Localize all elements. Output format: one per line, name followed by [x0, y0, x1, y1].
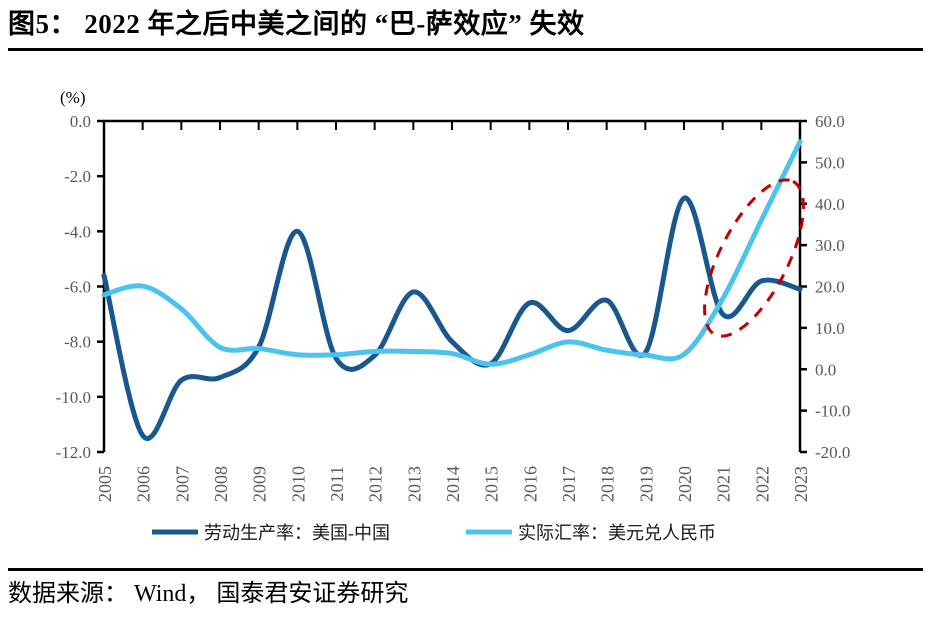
series-line: [104, 198, 800, 439]
x-tick-label: 2019: [636, 466, 656, 502]
x-tick-label: 2018: [598, 466, 618, 502]
x-tick-label: 2022: [752, 466, 772, 502]
series-line: [104, 142, 800, 365]
y-tick-label-right: -20.0: [815, 443, 850, 462]
line-chart: 0.0-2.0-4.0-6.0-8.0-10.0-12.0(%)60.050.0…: [0, 55, 931, 560]
legend-item: 实际汇率：美元兑人民币: [466, 523, 716, 543]
legend-item: 劳动生产率：美国-中国: [152, 523, 390, 543]
chart-container: 0.0-2.0-4.0-6.0-8.0-10.0-12.0(%)60.050.0…: [0, 55, 931, 560]
y-tick-label-left: -12.0: [56, 443, 91, 462]
x-tick-label: 2015: [482, 466, 502, 502]
source-note: 数据来源： Wind， 国泰君安证券研究: [8, 575, 923, 615]
x-tick-label: 2023: [791, 466, 811, 502]
y-tick-label-left: -10.0: [56, 388, 91, 407]
legend-label: 实际汇率：美元兑人民币: [518, 523, 716, 543]
x-tick-label: 2013: [404, 466, 424, 502]
x-tick-label: 2020: [675, 466, 695, 502]
figure-title: 图5： 2022 年之后中美之间的 “巴-萨效应” 失效: [8, 4, 923, 46]
x-tick-label: 2016: [520, 466, 540, 502]
x-tick-label: 2009: [250, 466, 270, 502]
y-axis-unit-label: (%): [60, 88, 85, 107]
x-tick-label: 2012: [366, 466, 386, 502]
y-tick-label-left: -8.0: [64, 333, 91, 352]
x-tick-label: 2007: [172, 466, 192, 502]
footer-divider: [8, 568, 923, 571]
y-tick-label-right: 60.0: [815, 112, 845, 131]
x-tick-label: 2011: [327, 466, 347, 501]
y-tick-label-right: -10.0: [815, 402, 850, 421]
title-divider: [8, 48, 923, 51]
x-tick-label: 2021: [714, 466, 734, 502]
y-tick-label-right: 40.0: [815, 195, 845, 214]
x-tick-label: 2014: [443, 466, 463, 502]
x-tick-label: 2005: [95, 466, 115, 502]
x-tick-label: 2006: [134, 466, 154, 502]
y-tick-label-left: 0.0: [70, 112, 91, 131]
y-tick-label-right: 20.0: [815, 278, 845, 297]
y-tick-label-right: 10.0: [815, 319, 845, 338]
x-tick-label: 2008: [211, 466, 231, 502]
x-tick-label: 2010: [288, 466, 308, 502]
x-tick-label: 2017: [559, 466, 579, 502]
y-tick-label-right: 50.0: [815, 153, 845, 172]
legend-label: 劳动生产率：美国-中国: [204, 523, 390, 543]
y-tick-label-left: -4.0: [64, 222, 91, 241]
y-tick-label-right: 0.0: [815, 360, 836, 379]
y-tick-label-left: -2.0: [64, 167, 91, 186]
y-tick-label-left: -6.0: [64, 278, 91, 297]
y-tick-label-right: 30.0: [815, 236, 845, 255]
